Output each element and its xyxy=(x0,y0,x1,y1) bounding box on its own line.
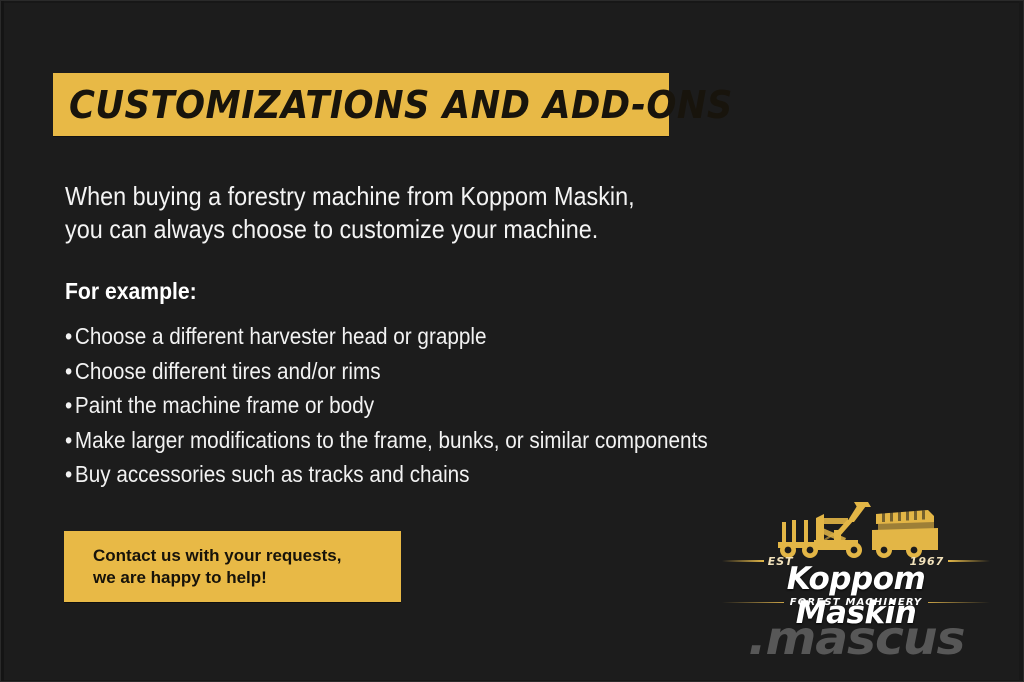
list-item: •Choose different tires and/or rims xyxy=(65,357,708,392)
bullet-icon: • xyxy=(65,322,75,350)
bullet-icon: • xyxy=(65,460,75,488)
logo-tag-rule-left xyxy=(722,602,784,603)
contact-cta-box[interactable]: Contact us with your requests, we are ha… xyxy=(64,531,401,602)
bullet-icon: • xyxy=(65,391,75,419)
mascus-watermark: .mascus xyxy=(748,614,964,662)
promo-slide: CUSTOMIZATIONS AND ADD-ONS When buying a… xyxy=(0,0,1024,682)
list-item: •Buy accessories such as tracks and chai… xyxy=(65,460,708,495)
intro-line-1: When buying a forestry machine from Kopp… xyxy=(65,180,695,213)
logo-tag-rule-right xyxy=(928,602,990,603)
list-item: •Paint the machine frame or body xyxy=(65,391,708,426)
list-item-label: Choose different tires and/or rims xyxy=(75,358,381,384)
bullet-icon: • xyxy=(65,357,75,385)
logo-tagline-row: FOREST MACHINERY xyxy=(722,596,990,608)
intro-paragraph: When buying a forestry machine from Kopp… xyxy=(65,180,695,246)
header-band: CUSTOMIZATIONS AND ADD-ONS xyxy=(53,73,669,136)
list-item: •Choose a different harvester head or gr… xyxy=(65,322,708,357)
list-item-label: Choose a different harvester head or gra… xyxy=(75,323,487,349)
logo-tagline: FOREST MACHINERY xyxy=(784,597,929,608)
bullet-icon: • xyxy=(65,426,75,454)
for-example-heading: For example: xyxy=(65,277,197,305)
contact-line-1: Contact us with your requests, xyxy=(93,545,401,567)
list-item-label: Buy accessories such as tracks and chain… xyxy=(75,461,470,487)
koppom-maskin-logo: EST 1967 Koppom Maskin FOREST MACHINERY xyxy=(722,500,990,610)
list-item-label: Make larger modifications to the frame, … xyxy=(75,427,708,453)
list-item-label: Paint the machine frame or body xyxy=(75,392,374,418)
forestry-machine-icon xyxy=(758,500,958,558)
customization-list: •Choose a different harvester head or gr… xyxy=(65,322,708,495)
page-title: CUSTOMIZATIONS AND ADD-ONS xyxy=(69,86,733,124)
contact-line-2: we are happy to help! xyxy=(93,567,401,589)
intro-line-2: you can always choose to customize your … xyxy=(65,213,695,246)
list-item: •Make larger modifications to the frame,… xyxy=(65,426,708,461)
